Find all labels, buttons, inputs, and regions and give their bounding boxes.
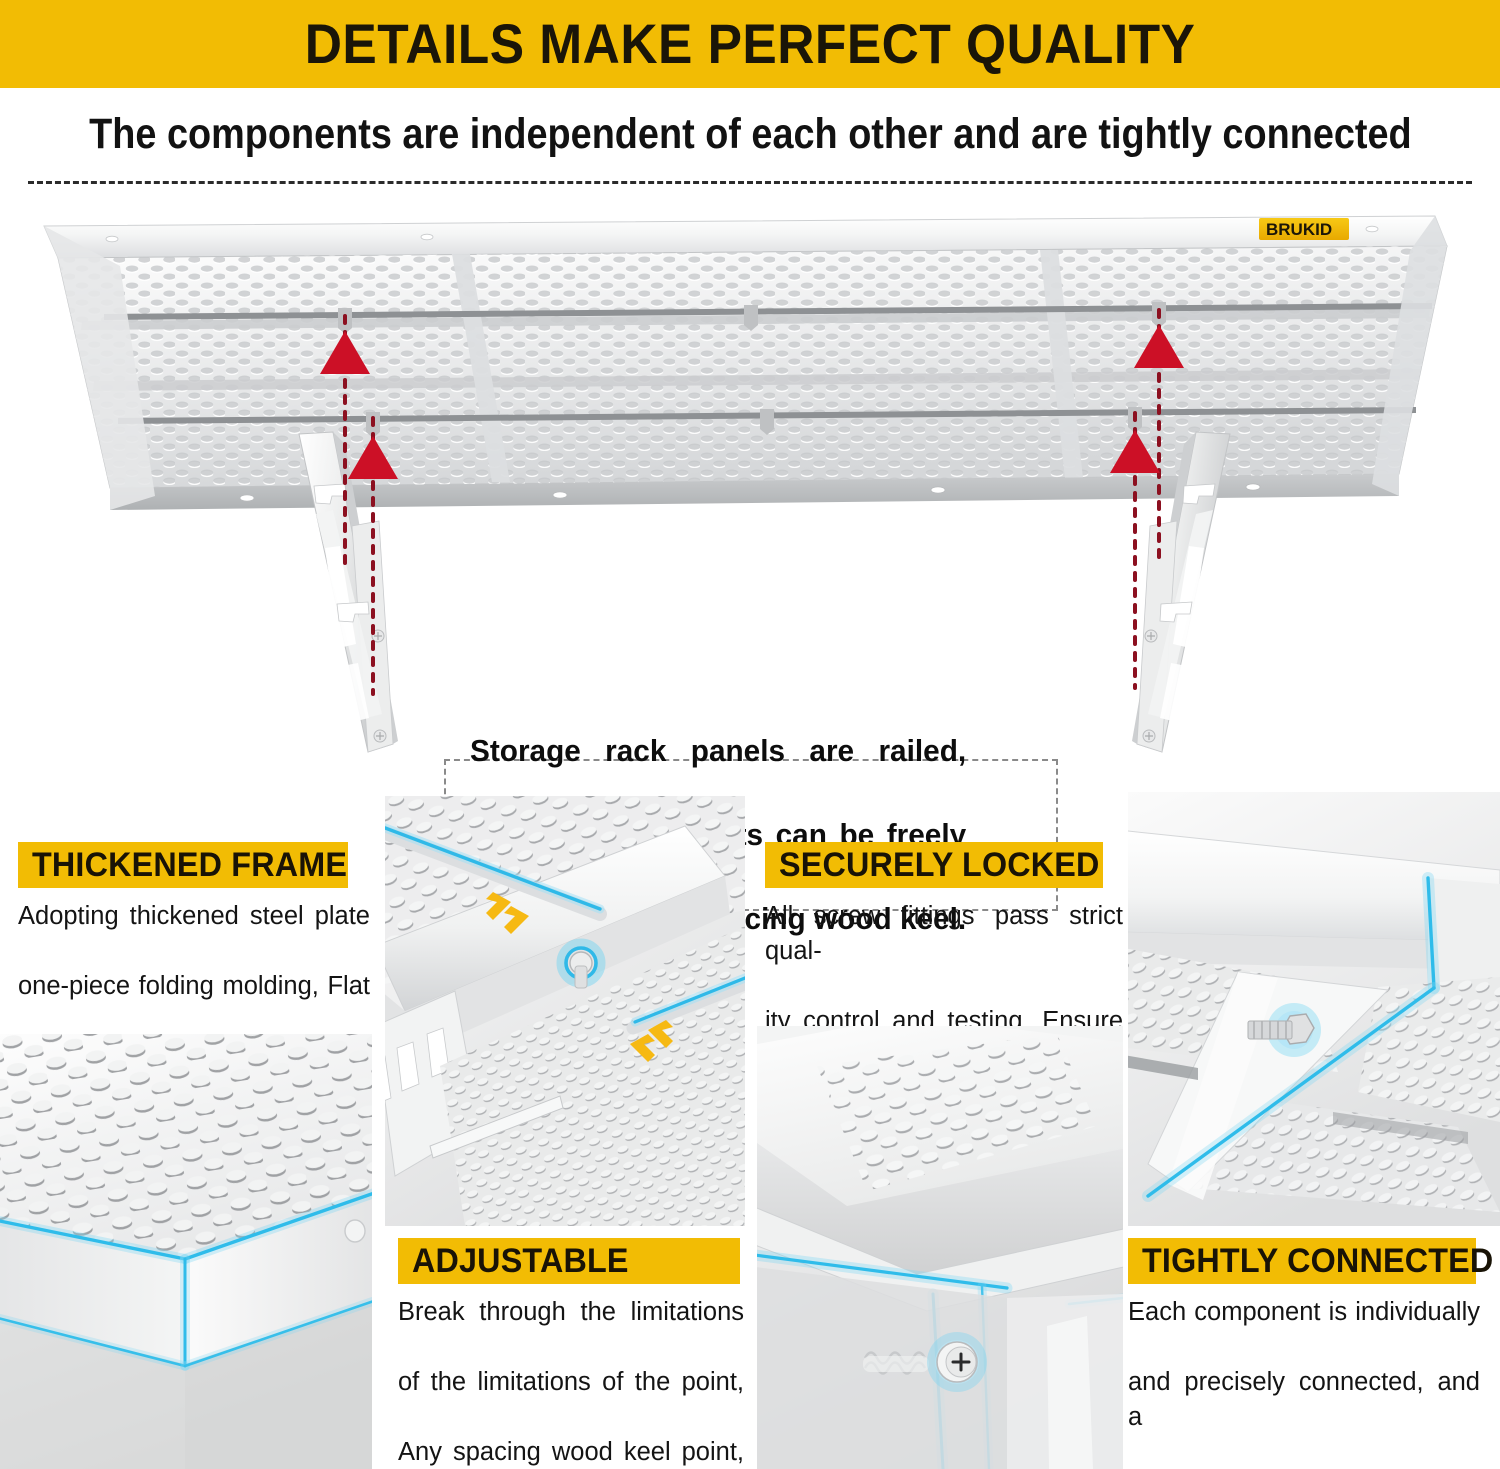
feature-body-adjustable: Break through the limitations of the lim… <box>398 1295 744 1469</box>
feature-adjustable: ADJUSTABLE Break through the limitations… <box>398 1238 744 1469</box>
feature-title: TIGHTLY CONNECTED <box>1142 1244 1493 1278</box>
feature-title: SECURELY LOCKED <box>779 848 1100 882</box>
feature-body-tightly-connected: Each component is individually and preci… <box>1128 1295 1480 1469</box>
shelf-exploded-illustration: BRUKID <box>0 196 1500 786</box>
feature-title-tag-adjustable: ADJUSTABLE <box>398 1238 740 1284</box>
feature-title: THICKENED FRAME <box>32 848 347 882</box>
hero-diagram: BRUKID <box>0 196 1500 786</box>
subtitle-wrap: The components are independent of each o… <box>0 88 1500 180</box>
feature-title-tag-thickened-frame: THICKENED FRAME <box>18 842 348 888</box>
feature-title: ADJUSTABLE <box>412 1244 629 1278</box>
body-line: one-piece folding molding, Flat <box>18 969 370 1039</box>
feature-title-tag-tightly-connected: TIGHTLY CONNECTED <box>1128 1238 1476 1284</box>
feature-grid: THICKENED FRAME Adopting thickened steel… <box>0 786 1500 1469</box>
body-line: Break through the limitations <box>398 1295 744 1365</box>
infographic-page: DETAILS MAKE PERFECT QUALITY The compone… <box>0 0 1500 1469</box>
body-line: and precisely connected, and a <box>1128 1365 1480 1469</box>
screw-fitting-photo <box>757 1026 1123 1469</box>
body-line: of the limitations of the point, <box>398 1365 744 1435</box>
brand-badge: BRUKID <box>1259 218 1349 240</box>
feature-tightly-connected: TIGHTLY CONNECTED Each component is indi… <box>1128 1238 1480 1469</box>
shelf-panel <box>44 216 1447 510</box>
bolt-joint-photo <box>1128 792 1500 1226</box>
header-banner: DETAILS MAKE PERFECT QUALITY <box>0 0 1500 88</box>
rail-slide-adjust-photo <box>385 796 745 1226</box>
page-subtitle: The components are independent of each o… <box>89 111 1412 157</box>
body-line: Adopting thickened steel plate <box>18 899 370 969</box>
body-line: Any spacing wood keel point, <box>398 1435 744 1469</box>
body-line: All screw fittings pass strict qual- <box>765 899 1123 1004</box>
brand-badge-label: BRUKID <box>1266 220 1332 239</box>
body-line: Each component is individually <box>1128 1295 1480 1365</box>
dashed-divider <box>28 181 1472 184</box>
page-title: DETAILS MAKE PERFECT QUALITY <box>305 16 1196 72</box>
feature-title-tag-securely-locked: SECURELY LOCKED <box>765 842 1103 888</box>
perforated-shelf-corner-photo <box>0 1034 372 1469</box>
